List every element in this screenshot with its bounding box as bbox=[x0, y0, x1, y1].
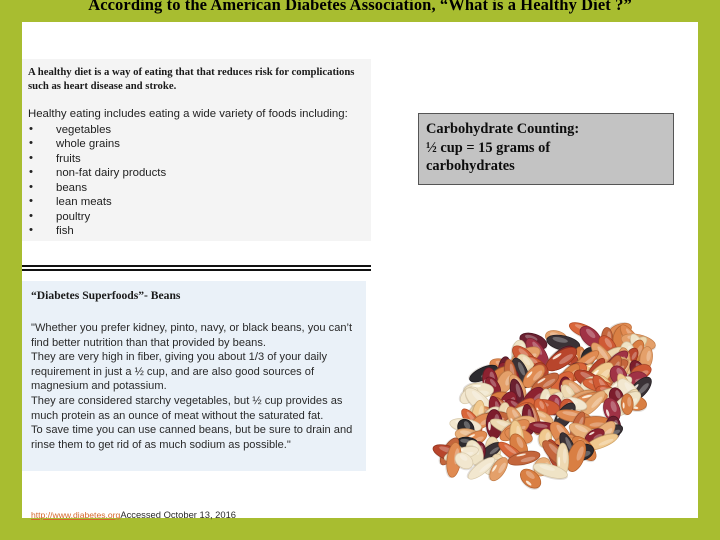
healthy-diet-intro: A healthy diet is a way of eating that t… bbox=[28, 66, 363, 93]
superfoods-body: "Whether you prefer kidney, pinto, navy,… bbox=[31, 321, 357, 452]
carb-box-line-2: ½ cup = 15 grams of bbox=[426, 139, 665, 158]
bullet-icon: • bbox=[29, 165, 33, 180]
carbohydrate-counting-box: Carbohydrate Counting: ½ cup = 15 grams … bbox=[418, 113, 674, 185]
page-title: According to the American Diabetes Assoc… bbox=[22, 0, 698, 15]
source-footer: http://www.diabetes.orgAccessed October … bbox=[31, 509, 236, 520]
list-item-label: poultry bbox=[56, 211, 90, 223]
list-item: •non-fat dairy products bbox=[28, 166, 363, 181]
list-item-label: fish bbox=[56, 225, 74, 237]
divider-rule-bottom bbox=[22, 269, 371, 271]
list-item: •beans bbox=[28, 181, 363, 196]
carb-box-line-3: carbohydrates bbox=[426, 157, 665, 176]
list-item-label: vegetables bbox=[56, 124, 111, 136]
source-link[interactable]: http://www.diabetes.org bbox=[31, 510, 120, 520]
bullet-icon: • bbox=[29, 223, 33, 238]
beans-illustration bbox=[408, 300, 688, 512]
superfoods-paragraph-2: They are very high in fiber, giving you … bbox=[31, 350, 357, 394]
list-item-label: fruits bbox=[56, 153, 81, 165]
list-item-label: lean meats bbox=[56, 196, 112, 208]
list-item: •fish bbox=[28, 224, 363, 239]
bullet-icon: • bbox=[29, 151, 33, 166]
carb-box-line-1: Carbohydrate Counting: bbox=[426, 120, 665, 139]
superfoods-title: “Diabetes Superfoods”- Beans bbox=[31, 289, 357, 303]
list-item-label: whole grains bbox=[56, 138, 120, 150]
list-item-label: beans bbox=[56, 182, 87, 194]
bullet-icon: • bbox=[29, 122, 33, 137]
list-item-label: non-fat dairy products bbox=[56, 167, 166, 179]
divider-rule-top bbox=[22, 265, 371, 267]
slide: According to the American Diabetes Assoc… bbox=[0, 0, 720, 540]
list-item: •fruits bbox=[28, 152, 363, 167]
list-item: •vegetables bbox=[28, 123, 363, 138]
healthy-foods-list: •vegetables•whole grains•fruits•non-fat … bbox=[28, 123, 363, 239]
list-item: •poultry bbox=[28, 210, 363, 225]
bullet-icon: • bbox=[29, 209, 33, 224]
superfoods-paragraph-3: They are considered starchy vegetables, … bbox=[31, 394, 357, 423]
diabetes-superfoods-box: “Diabetes Superfoods”- Beans "Whether yo… bbox=[22, 281, 366, 471]
bullet-icon: • bbox=[29, 180, 33, 195]
superfoods-paragraph-1: "Whether you prefer kidney, pinto, navy,… bbox=[31, 321, 357, 350]
healthy-diet-lead: Healthy eating includes eating a wide va… bbox=[28, 107, 363, 122]
healthy-diet-panel: A healthy diet is a way of eating that t… bbox=[22, 59, 371, 241]
superfoods-paragraph-4: To save time you can use canned beans, b… bbox=[31, 423, 357, 452]
list-item: •lean meats bbox=[28, 195, 363, 210]
list-item: •whole grains bbox=[28, 137, 363, 152]
beans-image bbox=[408, 300, 688, 512]
bullet-icon: • bbox=[29, 136, 33, 151]
bullet-icon: • bbox=[29, 194, 33, 209]
source-note: Accessed October 13, 2016 bbox=[120, 509, 236, 520]
section-divider bbox=[22, 265, 371, 271]
